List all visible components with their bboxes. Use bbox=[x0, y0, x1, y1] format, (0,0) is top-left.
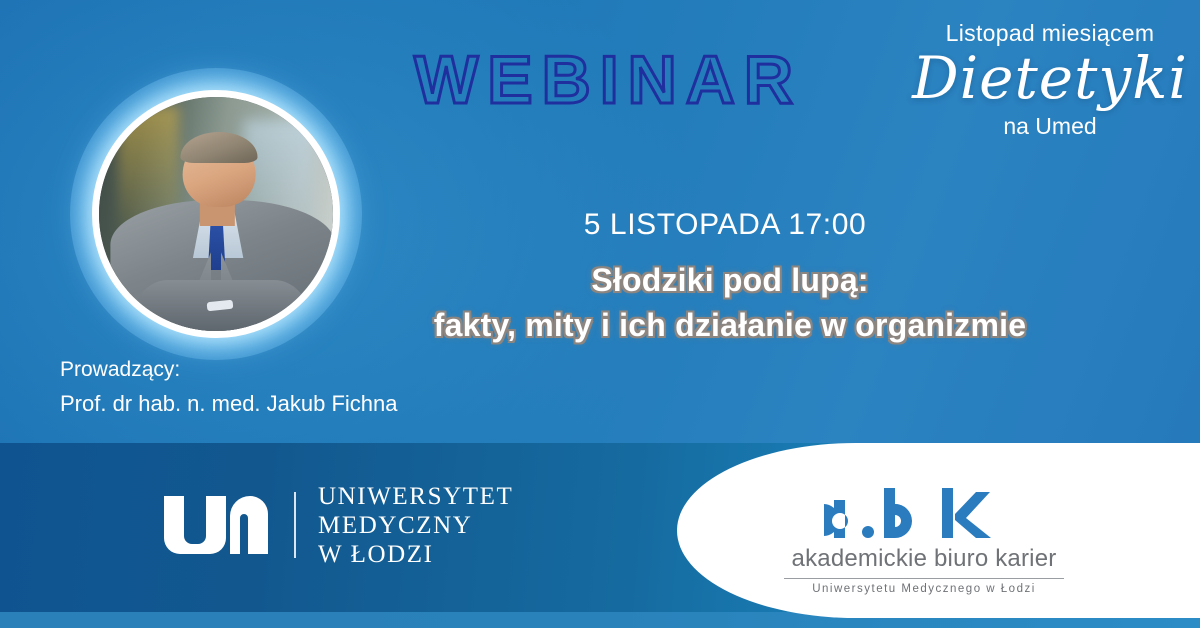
event-title-line-1: Słodziki pod lupą: bbox=[380, 258, 1080, 303]
event-title: Słodziki pod lupą: fakty, mity i ich dzi… bbox=[380, 258, 1080, 349]
um-logo-divider bbox=[294, 492, 296, 558]
abk-subtitle: Uniwersytetu Medycznego w Łodzi bbox=[778, 583, 1070, 595]
university-logo: UNIWERSYTET MEDYCZNY W ŁODZI bbox=[160, 487, 513, 563]
abk-name: akademickie biuro karier bbox=[778, 545, 1070, 573]
um-monogram-icon bbox=[160, 494, 268, 556]
campaign-lockup: Listopad miesiącem Dietetyki na Umed bbox=[905, 20, 1195, 140]
um-wordmark: UNIWERSYTET MEDYCZNY W ŁODZI bbox=[318, 482, 513, 569]
presenter-label: Prowadzący: bbox=[60, 354, 398, 387]
um-wordmark-line-3: W ŁODZI bbox=[318, 540, 513, 569]
campaign-script-word: Dietetyki bbox=[905, 48, 1195, 109]
webinar-headline: WEBINAR bbox=[368, 46, 848, 114]
abk-mark-icon bbox=[778, 486, 1070, 544]
presenter-portrait bbox=[92, 90, 340, 338]
event-title-line-2: fakty, mity i ich działanie w organizmie bbox=[380, 303, 1080, 348]
webinar-poster: WEBINAR Listopad miesiącem Dietetyki na … bbox=[0, 0, 1200, 628]
um-wordmark-line-1: UNIWERSYTET bbox=[318, 482, 513, 511]
event-datetime: 5 LISTOPADA 17:00 bbox=[400, 208, 1050, 242]
portrait-image bbox=[99, 97, 333, 331]
portrait-ring bbox=[92, 90, 340, 338]
campaign-line-top: Listopad miesiącem bbox=[905, 20, 1195, 46]
abk-divider bbox=[784, 578, 1064, 579]
presenter-name: Prof. dr hab. n. med. Jakub Fichna bbox=[60, 387, 398, 421]
presenter-block: Prowadzący: Prof. dr hab. n. med. Jakub … bbox=[60, 354, 398, 421]
campaign-line-bottom: na Umed bbox=[905, 113, 1195, 140]
um-wordmark-line-2: MEDYCZNY bbox=[318, 511, 513, 540]
abk-logo: akademickie biuro karier Uniwersytetu Me… bbox=[778, 486, 1070, 595]
